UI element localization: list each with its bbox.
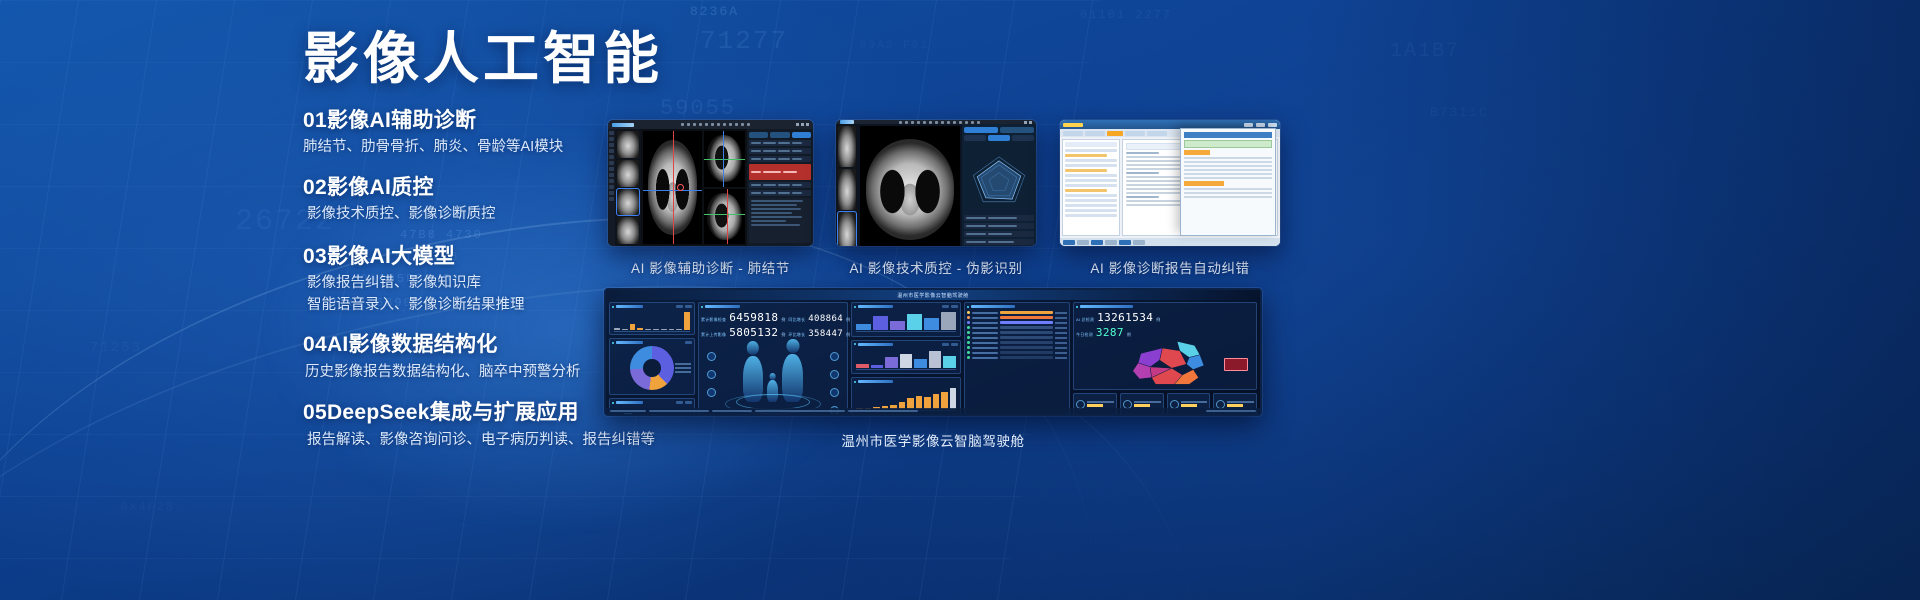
kpi-value: 5805132 xyxy=(729,326,778,339)
tab-settings[interactable] xyxy=(1147,131,1167,136)
tree-node xyxy=(1065,179,1117,182)
kpi-label: 同比增长 xyxy=(788,317,805,323)
grade-a xyxy=(964,135,986,141)
dashboard-column-mid xyxy=(851,302,961,415)
dialog-line xyxy=(1184,177,1272,179)
correction-badge xyxy=(1184,150,1210,155)
bullet-icon xyxy=(854,306,856,308)
kpi-row-2: 累计上传影像 5805132 例 环比增长 358447 例 xyxy=(701,326,845,339)
ai-kpi-unit: 例 xyxy=(1127,332,1131,338)
chart-monthly-trend xyxy=(612,310,692,330)
kpi-unit: 例 xyxy=(846,317,850,323)
ct-panel-tabs[interactable] xyxy=(749,132,811,138)
dashboard-column-right: AI 总检测 13261534 例 今日检测 3287 例 xyxy=(1073,302,1257,415)
ai-correction-dialog[interactable] xyxy=(1180,128,1276,236)
dialog-line xyxy=(1184,192,1272,194)
dashboard-footer xyxy=(606,408,1260,414)
ranking-list[interactable] xyxy=(967,310,1067,359)
dialog-line xyxy=(1184,157,1272,159)
ct-thumb[interactable] xyxy=(617,131,639,158)
panel-header xyxy=(854,305,958,308)
ct-viewer-app xyxy=(608,120,813,246)
qc-axial-view[interactable] xyxy=(860,126,960,246)
chest-ct-image xyxy=(866,139,954,241)
ct-tool-rail[interactable] xyxy=(608,129,615,246)
ranking-row xyxy=(967,356,1067,359)
grade-b xyxy=(988,135,1010,141)
dashboard-header: 温州市医学影像云智脑驾驶舱 xyxy=(606,290,1260,300)
ct-thumb[interactable] xyxy=(617,217,639,244)
ct-secondary-views xyxy=(704,131,745,244)
organ-icon xyxy=(707,388,716,397)
background-right-fade xyxy=(1300,0,1920,600)
status-button xyxy=(1133,240,1145,245)
panel-ranking[interactable] xyxy=(964,302,1070,415)
status-button xyxy=(1091,240,1103,245)
status-button xyxy=(1119,240,1131,245)
kpi-value: 358447 xyxy=(808,329,843,339)
section-heading xyxy=(1126,172,1159,174)
correction-accepted-banner xyxy=(1184,140,1272,148)
panel-header xyxy=(612,401,692,404)
tab-quality xyxy=(964,127,998,133)
tree-header xyxy=(1065,142,1117,147)
finding-row[interactable] xyxy=(749,190,811,196)
dialog-line xyxy=(1184,173,1272,175)
ai-kpi-label: 今日检测 xyxy=(1076,332,1093,338)
tab-worklist[interactable] xyxy=(1063,131,1083,136)
finding-row[interactable] xyxy=(749,148,811,154)
tree-node xyxy=(1065,154,1107,157)
app-logo-icon xyxy=(612,123,634,127)
bullet-icon xyxy=(612,342,614,344)
bullet-icon xyxy=(854,381,856,383)
bullet-icon xyxy=(612,402,614,404)
crosshair-h xyxy=(704,159,745,160)
dashboard-header-title: 温州市医学影像云智脑驾驶舱 xyxy=(897,292,969,299)
ranking-row xyxy=(967,351,1067,354)
bullet-icon xyxy=(854,343,856,345)
ct-toolbar-icons[interactable] xyxy=(636,123,794,126)
organ-icon xyxy=(830,370,839,379)
report-tree-panel[interactable] xyxy=(1062,139,1120,236)
section-heading xyxy=(1126,152,1159,154)
kpi-label: 累计上传影像 xyxy=(701,332,726,338)
screenshot-caption-2: AI 影像技术质控 - 伪影识别 xyxy=(836,257,1036,277)
crosshair-v xyxy=(723,131,724,187)
status-button xyxy=(1105,240,1117,245)
panel-header xyxy=(854,380,958,383)
report-statusbar[interactable] xyxy=(1060,238,1280,246)
kpi-unit: 例 xyxy=(846,332,850,338)
qc-grade-buttons[interactable] xyxy=(964,135,1034,141)
tree-node xyxy=(1065,194,1117,197)
qc-thumb[interactable] xyxy=(838,212,856,246)
organ-icon xyxy=(707,370,716,379)
ranking-row xyxy=(967,331,1067,334)
bullet-icon xyxy=(701,306,703,308)
banner-root: 8236A 71277 59055 6011 A66A98 47B8 4730 … xyxy=(0,0,1920,600)
organ-icon xyxy=(707,352,716,361)
finding-row[interactable] xyxy=(749,156,811,162)
dashboard-column-left xyxy=(609,302,695,415)
panel-qc-indicator[interactable] xyxy=(851,302,961,337)
organ-icon xyxy=(830,388,839,397)
tab-template[interactable] xyxy=(1125,131,1145,136)
ai-kpi-row-2: 今日检测 3287 例 xyxy=(1076,326,1254,339)
finding-row-highlighted[interactable] xyxy=(749,164,811,180)
kpi-value: 408864 xyxy=(808,314,843,324)
qc-body xyxy=(836,124,1036,246)
panel-header xyxy=(1076,305,1254,308)
tab-report xyxy=(792,132,811,138)
dashboard-caption: 温州市医学影像云智脑驾驶舱 xyxy=(604,430,1262,450)
qc-series-thumbnails[interactable] xyxy=(836,124,858,246)
ranking-row xyxy=(967,311,1067,314)
screenshot-qc-artifact[interactable]: AI 影像技术质控 - 伪影识别 xyxy=(836,120,1036,277)
tree-node xyxy=(1065,214,1117,217)
screenshot-caption-1: AI 影像辅助诊断 - 肺结节 xyxy=(608,257,813,277)
ct-body xyxy=(608,129,813,246)
screenshot-report-correct[interactable]: AI 影像诊断报告自动纠错 xyxy=(1060,120,1280,277)
qc-viewer-app xyxy=(836,120,1036,246)
dashboard-caption-wrap: 温州市医学影像云智脑驾驶舱 xyxy=(604,418,1262,450)
ct-thumb[interactable] xyxy=(617,160,639,187)
qc-metric-row[interactable] xyxy=(964,231,1034,237)
grade-c xyxy=(1012,135,1034,141)
screenshot-caption-3: AI 影像诊断报告自动纠错 xyxy=(1060,257,1280,277)
ranking-row xyxy=(967,341,1067,344)
dashboard-screenshot[interactable]: 温州市医学影像云智脑驾驶舱 xyxy=(604,288,1262,416)
ai-kpi-value: 3287 xyxy=(1096,326,1124,339)
screenshot-ct-nodule-frame[interactable] xyxy=(608,120,813,246)
ct-axial-view[interactable] xyxy=(643,131,702,244)
qc-metric-row[interactable] xyxy=(964,223,1034,229)
tree-node xyxy=(1065,174,1117,177)
screenshot-report-correct-frame[interactable] xyxy=(1060,120,1280,246)
ct-titlebar xyxy=(608,120,813,129)
dialog-titlebar xyxy=(1184,132,1272,138)
panel-monthly-trend[interactable] xyxy=(609,302,695,335)
finding-row[interactable] xyxy=(749,182,811,188)
panel-device-usage[interactable] xyxy=(851,340,961,375)
screenshot-qc-artifact-frame[interactable] xyxy=(836,120,1036,246)
ai-kpi-row-1: AI 总检测 13261534 例 xyxy=(1076,311,1254,324)
qc-image-area[interactable] xyxy=(858,124,962,246)
tab-findings xyxy=(749,132,768,138)
qc-metric-row[interactable] xyxy=(964,215,1034,221)
chart-device-usage xyxy=(854,348,958,368)
ct-findings-panel[interactable] xyxy=(747,129,813,246)
crosshair-v xyxy=(727,189,728,245)
ct-thumb[interactable] xyxy=(617,189,639,216)
qc-score-panel[interactable] xyxy=(962,124,1036,246)
help-icon[interactable] xyxy=(1256,123,1265,127)
panel-header xyxy=(612,341,692,344)
tree-node xyxy=(1065,149,1117,152)
report-app xyxy=(1060,120,1280,246)
panel-header xyxy=(967,305,1067,308)
panel-ai-detection-map[interactable]: AI 总检测 13261534 例 今日检测 3287 例 xyxy=(1073,302,1257,390)
panel-exam-share[interactable] xyxy=(609,338,695,395)
kpi-row-1: 累计影像检查 6459818 例 同比增长 408864 例 xyxy=(701,311,845,324)
qc-thumb[interactable] xyxy=(838,126,856,167)
section-heading xyxy=(1126,196,1159,198)
tab-active[interactable] xyxy=(1107,131,1123,136)
dialog-line xyxy=(1184,161,1272,163)
kpi-label: 环比增长 xyxy=(788,332,805,338)
map-tooltip xyxy=(1224,358,1248,371)
tab-history[interactable] xyxy=(1085,131,1105,136)
dialog-line xyxy=(1184,188,1272,190)
tree-node xyxy=(1065,169,1107,172)
kpi-value: 6459818 xyxy=(729,311,778,324)
bullet-icon xyxy=(1076,306,1078,308)
app-logo-icon xyxy=(1063,123,1083,127)
ct-series-thumbnails[interactable] xyxy=(615,129,641,246)
tree-node xyxy=(1065,209,1117,212)
qc-panel-tabs[interactable] xyxy=(964,127,1034,133)
qc-metric-row[interactable] xyxy=(964,239,1034,245)
panel-header xyxy=(854,343,958,346)
panel-header xyxy=(701,305,845,308)
dialog-line xyxy=(1184,165,1272,167)
chart-qc-indicator xyxy=(854,310,958,330)
ai-kpi-value: 13261534 xyxy=(1097,311,1153,324)
ranking-row xyxy=(967,346,1067,349)
ranking-row xyxy=(967,326,1067,329)
ai-kpi-label: AI 总检测 xyxy=(1076,317,1094,323)
dashboard-frame[interactable]: 温州市医学影像云智脑驾驶舱 xyxy=(604,288,1262,416)
qc-radar-chart xyxy=(966,146,1032,210)
ct-report-text xyxy=(749,198,811,243)
crosshair-h xyxy=(704,214,745,215)
human-body-visualization xyxy=(701,340,845,412)
kpi-unit: 例 xyxy=(781,317,785,323)
tab-detail xyxy=(1000,127,1034,133)
kpi-label: 累计影像检查 xyxy=(701,317,726,323)
user-icon[interactable] xyxy=(1268,123,1277,127)
status-button xyxy=(1077,240,1089,245)
organ-icon xyxy=(830,352,839,361)
dialog-line xyxy=(1184,169,1272,171)
menu-icon[interactable] xyxy=(1244,123,1253,127)
tree-node xyxy=(1065,199,1117,202)
page-title: 影像人工智能 xyxy=(303,28,723,90)
window-controls[interactable] xyxy=(796,123,809,126)
dialog-line xyxy=(1184,196,1272,198)
ai-kpi-unit: 例 xyxy=(1156,317,1160,323)
ranking-row xyxy=(967,336,1067,339)
tree-node xyxy=(1065,184,1117,187)
tab-measure xyxy=(770,132,789,138)
bullet-icon xyxy=(967,306,969,308)
finding-row[interactable] xyxy=(749,140,811,146)
bullet-icon xyxy=(612,306,614,308)
ct-sagittal-view[interactable] xyxy=(704,189,745,245)
region-map[interactable] xyxy=(1076,340,1254,387)
ct-image-area[interactable] xyxy=(641,129,747,246)
panel-header xyxy=(612,305,692,308)
panel-overview[interactable]: 累计影像检查 6459818 例 同比增长 408864 例 累计上传影像 58… xyxy=(698,302,848,415)
chart-growth-trend xyxy=(854,385,958,409)
ranking-row xyxy=(967,321,1067,324)
tree-node xyxy=(1065,159,1117,162)
tree-node xyxy=(1065,189,1107,192)
screenshot-ct-nodule[interactable]: AI 影像辅助诊断 - 肺结节 xyxy=(608,120,813,277)
tree-node xyxy=(1065,164,1117,167)
chart-legend xyxy=(675,363,691,373)
dashboard-grid: 累计影像检查 6459818 例 同比增长 408864 例 累计上传影像 58… xyxy=(606,300,1260,416)
tree-node xyxy=(1065,204,1117,207)
chart-exam-share-donut xyxy=(630,346,674,390)
correction-badge xyxy=(1184,181,1224,186)
lung-ct-image xyxy=(707,193,741,240)
status-button xyxy=(1063,240,1075,245)
crosshair-v xyxy=(673,131,674,244)
kpi-unit: 例 xyxy=(781,332,785,338)
ct-coronal-view[interactable] xyxy=(704,131,745,187)
qc-thumb[interactable] xyxy=(838,169,856,210)
ranking-row xyxy=(967,316,1067,319)
